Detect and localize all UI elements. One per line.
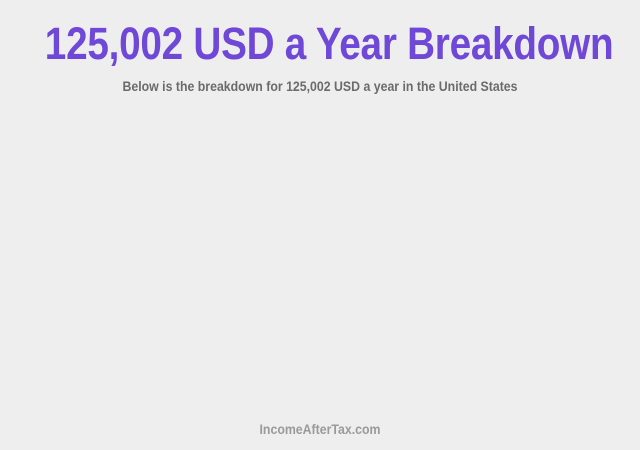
page-title: 125,002 USD a Year Breakdown [45, 20, 595, 68]
chart-placeholder [0, 94, 640, 421]
page-header: 125,002 USD a Year Breakdown Below is th… [0, 0, 640, 94]
page-subtitle: Below is the breakdown for 125,002 USD a… [38, 68, 601, 94]
breakdown-content-region [0, 94, 640, 421]
page-root: 125,002 USD a Year Breakdown Below is th… [0, 0, 640, 450]
page-footer: IncomeAfterTax.com [0, 421, 640, 450]
site-watermark: IncomeAfterTax.com [38, 421, 601, 437]
